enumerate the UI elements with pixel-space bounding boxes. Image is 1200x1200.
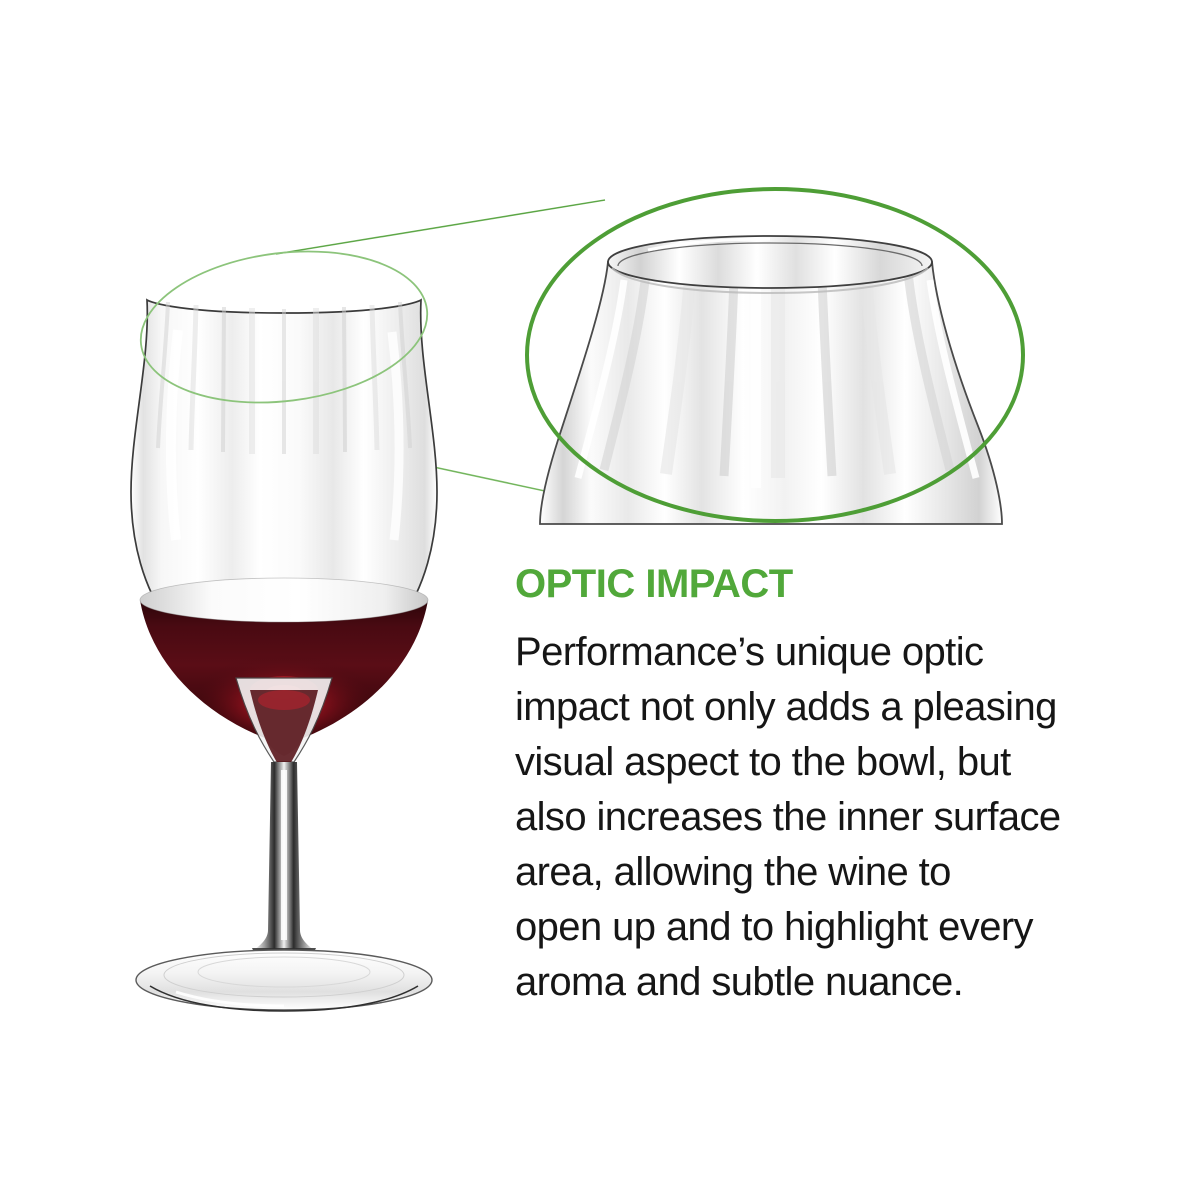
feature-text-panel: OPTIC IMPACT Performance’s unique optic …	[515, 563, 1115, 1010]
description-line: also increases the inner surface	[515, 790, 1115, 845]
description-line: open up and to highlight every	[515, 900, 1115, 955]
feature-description: Performance’s unique optic impact not on…	[515, 625, 1115, 1010]
wine-glass	[131, 300, 437, 1011]
glass-foot	[136, 950, 432, 1011]
description-line: area, allowing the wine to	[515, 845, 1115, 900]
description-line: impact not only adds a pleasing	[515, 680, 1115, 735]
description-line: visual aspect to the bowl, but	[515, 735, 1115, 790]
description-line: aroma and subtle nuance.	[515, 955, 1115, 1010]
product-feature-graphic: OPTIC IMPACT Performance’s unique optic …	[0, 0, 1200, 1200]
description-line: Performance’s unique optic	[515, 625, 1115, 680]
page-title: OPTIC IMPACT	[515, 563, 1115, 605]
